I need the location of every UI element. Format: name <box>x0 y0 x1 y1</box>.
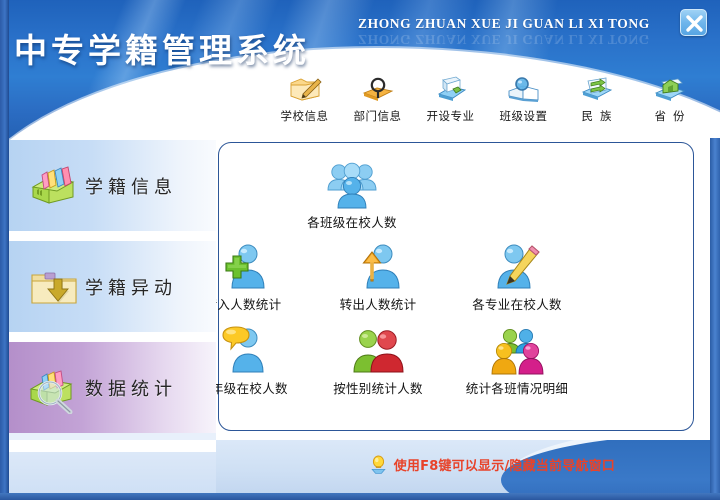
book-green-icon <box>434 74 468 104</box>
toolbar-item-6[interactable]: 省份 <box>633 74 706 124</box>
sidebar-divider <box>9 332 216 342</box>
status-text: 使用F8键可以显示/隐藏当前导航窗口 <box>394 455 615 474</box>
nav-item-label: 统计各班情况明细 <box>466 378 568 397</box>
window-edge-bottom <box>0 493 720 500</box>
user-out-orange-icon <box>352 241 404 291</box>
nav-item-6[interactable]: 按性别统计人数 <box>308 323 448 397</box>
page-title: 中专学籍管理系统 <box>14 24 310 72</box>
nav-item-3[interactable]: 转出人数统计 <box>308 239 448 313</box>
toolbar-item-2[interactable]: 部门信息 <box>341 74 414 124</box>
toolbar-item-label: 部门信息 <box>354 108 402 124</box>
books-magnifier-icon <box>26 362 82 414</box>
user-add-green-icon <box>217 239 269 291</box>
toolbar: 学校信息部门信息开设专业班级设置民族省份 <box>268 74 710 136</box>
nav-item-7[interactable]: 统计各班情况明细 <box>447 323 587 397</box>
sidebar-item-2[interactable]: 学籍异动 <box>9 241 216 332</box>
user-speech-bubble-icon <box>217 323 269 375</box>
nav-item-label: 各班级在校人数 <box>307 212 397 231</box>
sidebar-item-1[interactable]: 学籍信息 <box>9 140 216 231</box>
books-box-icon <box>27 161 81 211</box>
sidebar-item-label: 数据统计 <box>85 375 177 401</box>
content-area: 各班级在校人数转入人数统计转出人数统计各专业在校人数各年级在校人数按性别统计人数… <box>216 140 710 440</box>
users-multicolor-icon <box>488 325 546 375</box>
user-edit-pencil-icon <box>491 239 543 291</box>
close-icon <box>684 13 705 34</box>
toolbar-item-label: 开设专业 <box>427 108 475 124</box>
toolbar-item-3[interactable]: 开设专业 <box>414 74 487 124</box>
book-green-home-icon <box>653 74 687 104</box>
sidebar-item-label: 学籍异动 <box>85 274 177 300</box>
page-title-en: ZHONG ZHUAN XUE JI GUAN LI XI TONG <box>358 16 650 32</box>
folder-download-icon <box>27 263 81 311</box>
nav-item-label: 转出人数统计 <box>340 294 417 313</box>
user-out-orange-icon <box>352 239 404 291</box>
book-magnifier-icon <box>361 74 395 104</box>
page-title-en-reflection: ZHONG ZHUAN XUE JI GUAN LI XI TONG <box>358 31 650 47</box>
book-green-arrows-icon <box>580 74 614 104</box>
sidebar-item-label: 学籍信息 <box>85 173 177 199</box>
users-gender-icon <box>351 325 405 375</box>
toolbar-item-label: 民族 <box>575 108 619 124</box>
users-gender-icon <box>351 323 405 375</box>
toolbar-item-5[interactable]: 民族 <box>560 74 633 124</box>
toolbar-item-label: 学校信息 <box>281 108 329 124</box>
book-green-icon <box>434 74 468 104</box>
users-group-blue-icon <box>323 159 381 209</box>
users-group-blue-icon <box>323 157 381 209</box>
books-magnifier-icon <box>23 362 85 414</box>
toolbar-item-4[interactable]: 班级设置 <box>487 74 560 124</box>
users-multicolor-icon <box>488 323 546 375</box>
nav-item-label: 转入人数统计 <box>205 294 282 313</box>
window-edge-left <box>0 0 9 500</box>
book-green-home-icon <box>653 74 687 104</box>
lightbulb-icon <box>370 455 387 474</box>
books-box-icon <box>23 161 85 211</box>
toolbar-item-1[interactable]: 学校信息 <box>268 74 341 124</box>
nav-item-label: 各专业在校人数 <box>472 294 562 313</box>
window-edge-right <box>710 138 720 500</box>
folder-pencil-icon <box>288 74 322 104</box>
application-window: 中专学籍管理系统 ZHONG ZHUAN XUE JI GUAN LI XI T… <box>0 0 720 500</box>
close-button[interactable] <box>680 9 707 36</box>
user-speech-bubble-icon <box>217 325 269 375</box>
nav-item-label: 按性别统计人数 <box>333 378 423 397</box>
book-magnifier-icon <box>361 74 395 104</box>
folder-download-icon <box>23 263 85 311</box>
folder-pencil-icon <box>288 74 322 104</box>
toolbar-item-label: 班级设置 <box>500 108 548 124</box>
book-magnifier-blue-icon <box>507 74 541 104</box>
user-edit-pencil-icon <box>491 241 543 291</box>
sidebar-divider <box>9 231 216 241</box>
nav-item-4[interactable]: 各专业在校人数 <box>447 239 587 313</box>
sidebar-filler <box>9 440 216 493</box>
book-magnifier-blue-icon <box>507 74 541 104</box>
book-green-arrows-icon <box>580 74 614 104</box>
sidebar: 学籍信息学籍异动数据统计 <box>9 140 216 493</box>
nav-item-1[interactable]: 各班级在校人数 <box>282 157 422 231</box>
toolbar-item-label: 省份 <box>648 108 692 124</box>
navigation-panel: 各班级在校人数转入人数统计转出人数统计各专业在校人数各年级在校人数按性别统计人数… <box>218 142 694 431</box>
user-add-green-icon <box>217 241 269 291</box>
sidebar-item-3[interactable]: 数据统计 <box>9 342 216 433</box>
status-message: 使用F8键可以显示/隐藏当前导航窗口 <box>370 455 615 474</box>
